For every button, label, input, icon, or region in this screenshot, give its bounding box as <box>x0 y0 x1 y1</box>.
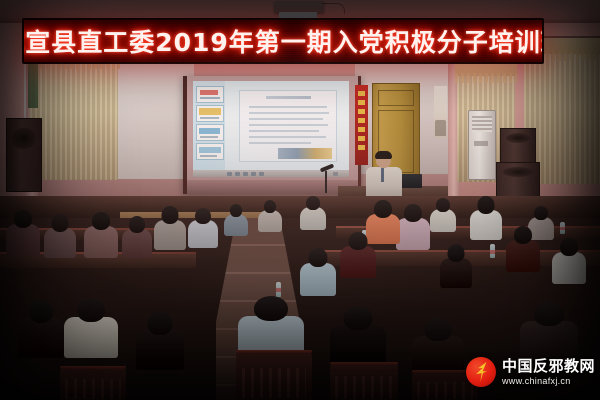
audience-person <box>552 238 586 284</box>
led-banner: 武宣县直工委2019年第一期入党积极分子培训班 <box>22 18 544 64</box>
chair <box>236 352 312 400</box>
audience-person-head <box>514 226 532 244</box>
audience-person-head <box>349 232 368 250</box>
slide-image <box>278 148 332 159</box>
audience-person-torso <box>396 218 430 250</box>
presenter-shirt <box>366 167 402 198</box>
projection-screen-image <box>193 81 349 177</box>
audience-person-torso <box>470 210 502 240</box>
audience-person-head <box>254 296 288 321</box>
audience-person <box>340 232 376 278</box>
watermark-url: www.chinafxj.cn <box>502 377 595 386</box>
audience-person-torso <box>300 207 326 230</box>
audience-person-torso <box>330 325 386 366</box>
audience-person <box>300 196 326 230</box>
photo-scene: 武宣县直工委2019年第一期入党积极分子培训班 <box>0 0 600 400</box>
audience-person-head <box>436 198 450 212</box>
ppt-current-slide <box>239 90 337 162</box>
audience-person-head <box>404 204 422 222</box>
wall-hanging <box>434 86 447 138</box>
led-banner-text: 武宣县直工委2019年第一期入党积极分子培训班 <box>22 23 544 59</box>
watermark: 中国反邪教网 www.chinafxj.cn <box>466 350 598 394</box>
ppt-thumbnail-pane <box>193 81 225 177</box>
microphone-stand <box>325 171 327 193</box>
air-conditioner-unit <box>468 110 496 180</box>
audience-person-head <box>148 312 173 335</box>
audience-person <box>6 210 40 256</box>
chair-top-rail <box>60 366 126 369</box>
audience-person <box>188 208 218 248</box>
audience-person-head <box>309 248 328 267</box>
audience-person-head <box>29 300 53 323</box>
presenter-lanyard <box>381 168 384 182</box>
audience-person-torso <box>552 252 586 284</box>
audience-person-head <box>560 238 578 256</box>
audience-person <box>84 212 118 258</box>
audience-person-head <box>534 206 548 220</box>
audience-person <box>18 300 64 358</box>
ppt-thumbnail <box>196 143 224 160</box>
audience-person <box>258 200 282 232</box>
audience-person <box>430 198 456 232</box>
flame-logo-icon <box>466 357 496 387</box>
audience-person-torso <box>340 246 376 278</box>
audience-person <box>44 214 76 258</box>
audience-person-torso <box>506 240 540 272</box>
audience-person-head <box>425 318 452 341</box>
water-bottle <box>560 222 565 234</box>
audience-person-head <box>344 306 373 330</box>
glasses-icon <box>376 158 391 162</box>
speaker-cabinet-left <box>6 118 42 192</box>
audience-person-torso <box>188 220 218 248</box>
audience-person-torso <box>224 214 248 236</box>
audience-person-head <box>195 208 211 224</box>
audience-person-head <box>162 206 179 224</box>
audience-person-head <box>77 298 105 322</box>
ppt-thumbnail <box>196 86 224 103</box>
audience-person <box>506 226 540 272</box>
audience-person <box>470 196 502 240</box>
speaker-cabinet-right-top <box>500 128 536 164</box>
audience-person <box>330 306 386 366</box>
ppt-thumbnail <box>196 105 224 122</box>
audience-person <box>154 206 186 250</box>
audience-person <box>396 204 430 250</box>
audience-person-torso <box>440 258 472 288</box>
audience-person <box>64 298 118 358</box>
audience-person <box>224 204 248 236</box>
audience-person-head <box>14 210 32 228</box>
curtain-left <box>30 52 118 180</box>
chair-top-rail <box>236 350 312 353</box>
audience-person-head <box>230 204 242 217</box>
projection-screen-lower-frame <box>187 180 358 194</box>
audience-person-head <box>92 212 110 230</box>
audience-person <box>136 312 184 370</box>
audience-person-torso <box>300 263 336 296</box>
watermark-text: 中国反邪教网 www.chinafxj.cn <box>502 359 595 386</box>
water-bottle <box>276 282 281 297</box>
audience-person-torso <box>258 210 282 232</box>
chair-top-rail <box>330 362 398 365</box>
watermark-site-name: 中国反邪教网 <box>502 359 595 374</box>
speaker-cabinet-right-bottom <box>496 162 540 198</box>
audience-person <box>238 296 304 358</box>
audience-person-torso <box>430 209 456 232</box>
audience-person <box>300 248 336 296</box>
chair <box>60 368 126 400</box>
audience-person-head <box>478 196 495 214</box>
audience-person-head <box>374 200 392 218</box>
slide-title-bar <box>266 96 311 99</box>
audience-person-head <box>52 214 69 232</box>
presenter-speaker <box>362 152 408 198</box>
audience-person-head <box>534 302 564 326</box>
audience-person-torso <box>44 228 76 258</box>
projector-cable <box>322 3 345 14</box>
audience-person-torso <box>122 229 152 258</box>
chair <box>330 364 398 400</box>
audience-person-torso <box>18 318 64 358</box>
audience-person-head <box>448 244 465 262</box>
audience-person <box>440 244 472 288</box>
audience-person <box>412 318 464 376</box>
audience-person-head <box>306 196 320 210</box>
water-bottle <box>490 244 495 258</box>
projection-screen <box>183 76 361 194</box>
audience-person-torso <box>64 317 118 358</box>
audience-person-torso <box>154 220 186 250</box>
audience-person-torso <box>136 330 184 370</box>
audience-person-torso <box>84 226 118 258</box>
audience-person <box>122 216 152 258</box>
audience-person-torso <box>6 224 40 256</box>
audience-person-head <box>264 200 276 213</box>
ppt-thumbnail <box>196 124 224 141</box>
audience-person-head <box>129 216 145 233</box>
